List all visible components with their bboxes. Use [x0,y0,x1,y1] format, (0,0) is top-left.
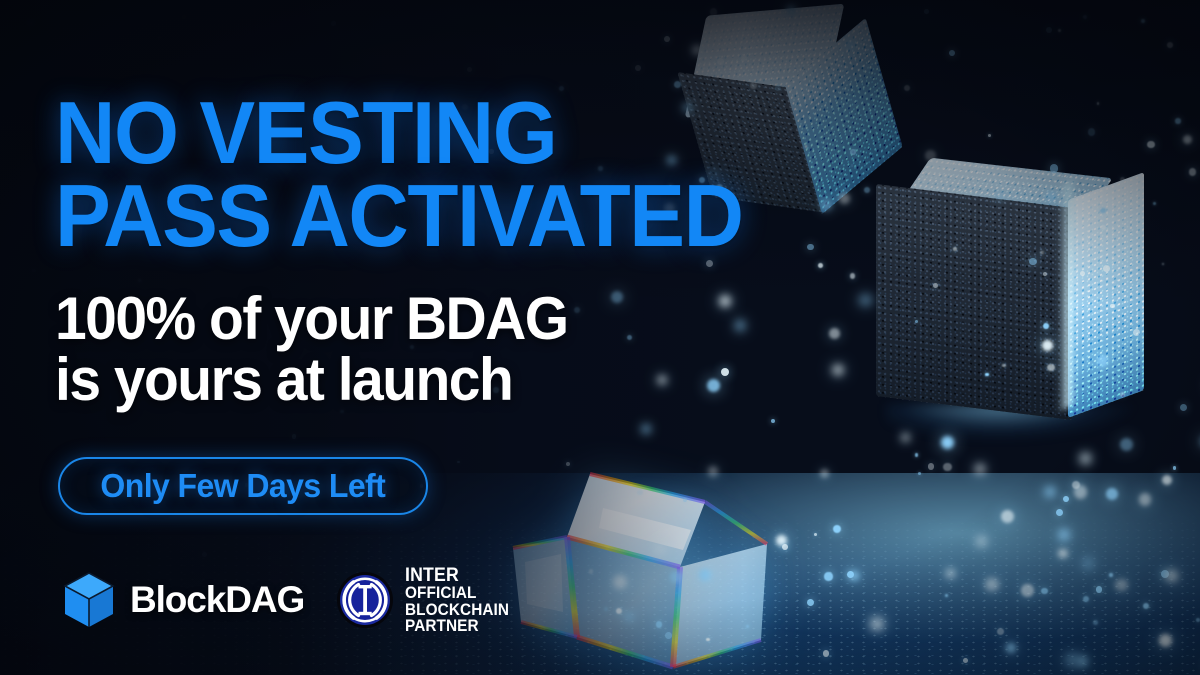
urgency-badge-label: Only Few Days Left [100,467,385,505]
blockdag-logo[interactable]: BlockDAG [62,571,304,629]
isometric-cube-icon [62,571,116,629]
subheadline: 100% of your BDAG is yours at launch [55,288,568,410]
inter-line-1: INTER [405,566,509,585]
inter-line-4: PARTNER [405,618,509,635]
inter-partner-badge[interactable]: INTER OFFICIAL BLOCKCHAIN PARTNER [336,566,517,635]
inter-line-2: OFFICIAL [405,585,509,602]
inter-milan-crest-icon [336,571,394,629]
inter-line-3: BLOCKCHAIN [405,602,509,619]
blockdag-wordmark: BlockDAG [130,579,304,621]
headline: NO VESTING PASS ACTIVATED [55,92,743,257]
promotional-banner: NO VESTING PASS ACTIVATED 100% of your B… [0,0,1200,675]
inter-partner-text: INTER OFFICIAL BLOCKCHAIN PARTNER [405,566,517,635]
urgency-badge[interactable]: Only Few Days Left [58,457,428,515]
footer-logos: BlockDAG [62,566,517,635]
